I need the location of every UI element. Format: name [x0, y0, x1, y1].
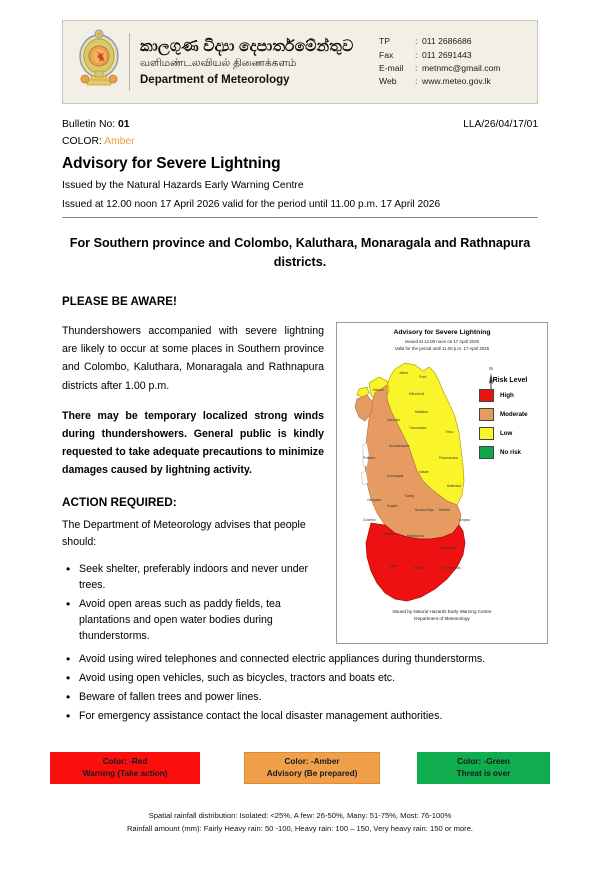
svg-text:Gampaha: Gampaha [367, 498, 381, 502]
org-name-tamil: வளிமண்டலவியல் திணைக்களம் [140, 57, 379, 70]
org-name-english: Department of Meteorology [140, 74, 379, 86]
svg-text:Anuradhapura: Anuradhapura [389, 444, 409, 448]
contact-row-web: Web : www.meteo.gov.lk [379, 75, 527, 88]
color-key-green: Color: -Green Threat is over [417, 752, 550, 784]
svg-text:Mullaitivu: Mullaitivu [415, 410, 429, 414]
bulletin-number: 01 [118, 119, 130, 130]
letterhead: කාලගුණ විද්‍යා දෙපාර්තමේන්තුව வளிமண்டலவி… [62, 20, 538, 104]
color-line: COLOR: Amber [62, 134, 538, 150]
svg-text:Nuwara Eliya: Nuwara Eliya [415, 508, 434, 512]
legend-swatch-low [479, 427, 494, 440]
contact-label-tp: TP [379, 35, 415, 48]
svg-text:Trincomalee: Trincomalee [409, 426, 427, 430]
svg-text:Jaffna: Jaffna [399, 371, 408, 375]
advisory-document-page: කාලගුණ විද්‍යා දෙපාර්තමේන්තුව வளிமண்டலவி… [0, 20, 600, 877]
list-item: Avoid open areas such as paddy fields, t… [79, 596, 324, 644]
issued-at-line: Issued at 12.00 noon 17 April 2026 valid… [62, 197, 538, 212]
svg-text:Mannar: Mannar [373, 388, 385, 392]
legend-item-high: High [479, 389, 541, 402]
contact-label-web: Web [379, 75, 415, 88]
color-key-amber-line1: Color: -Amber [285, 756, 340, 768]
risk-map-figure: Advisory for Severe Lightning Issued at … [336, 322, 548, 644]
sri-lanka-map-icon: Jaffna Point Mannar Kilinochchi Mullaiti… [343, 355, 485, 605]
contact-sep-web: : [415, 75, 422, 88]
legend-label-no-risk: No risk [500, 449, 521, 456]
svg-text:Ampara: Ampara [459, 518, 470, 522]
svg-text:Matale: Matale [419, 470, 429, 474]
svg-text:Point: Point [419, 375, 426, 379]
list-item: For emergency assistance contact the loc… [79, 708, 538, 724]
paragraph-precautions: There may be temporary localized strong … [62, 407, 324, 480]
sri-lanka-national-emblem-icon [78, 29, 120, 96]
legend-item-moderate: Moderate [479, 408, 541, 421]
svg-text:Trinco: Trinco [445, 430, 454, 434]
svg-text:Monaragala: Monaragala [439, 546, 456, 550]
contact-sep-tp: : [415, 35, 422, 48]
scope-statement: For Southern province and Colombo, Kalut… [62, 234, 538, 271]
paragraph-forecast: Thundershowers accompanied with severe l… [62, 322, 324, 395]
list-item: Avoid using open vehicles, such as bicyc… [79, 670, 538, 686]
legend-swatch-high [479, 389, 494, 402]
color-key-amber: Color: -Amber Advisory (Be prepared) [244, 752, 380, 784]
color-key-green-line1: Color: -Green [457, 756, 510, 768]
list-item: Seek shelter, preferably indoors and nev… [79, 561, 324, 593]
contact-value-fax: 011 2691443 [422, 49, 527, 62]
svg-text:Kaluthara: Kaluthara [383, 532, 397, 536]
svg-text:Vavuniya: Vavuniya [387, 418, 400, 422]
color-key-red-line1: Color: -Red [103, 756, 148, 768]
svg-text:Batticaloa: Batticaloa [447, 484, 461, 488]
svg-text:Badulla: Badulla [439, 508, 450, 512]
legend-item-low: Low [479, 427, 541, 440]
contact-sep-email: : [415, 62, 422, 75]
color-key-amber-line2: Advisory (Be prepared) [267, 768, 358, 780]
svg-text:Colombo: Colombo [363, 518, 376, 522]
map-caption-line2: Department of Meteorology [341, 616, 543, 623]
color-value: Amber [104, 136, 135, 147]
advises-intro: The Department of Meteorology advises th… [62, 517, 324, 551]
svg-text:Galle: Galle [389, 564, 397, 568]
advice-list-narrow: Seek shelter, preferably indoors and nev… [62, 561, 324, 644]
map-column: Advisory for Severe Lightning Issued at … [336, 322, 548, 644]
legend-label-moderate: Moderate [500, 411, 528, 418]
bulletin-meta: Bulletin No: 01 LLA/26/04/17/01 COLOR: A… [62, 117, 538, 218]
contact-row-tp: TP : 011 2686686 [379, 35, 527, 48]
color-key-green-line2: Threat is over [457, 768, 511, 780]
content-row: Thundershowers accompanied with severe l… [62, 322, 538, 647]
legend-swatch-no-risk [479, 446, 494, 459]
emblem-wrap [73, 29, 125, 96]
legend-label-low: Low [500, 430, 512, 437]
svg-text:Hambantota: Hambantota [443, 566, 461, 570]
compass-letter: N [484, 367, 498, 372]
reference-code: LLA/26/04/17/01 [463, 117, 538, 132]
legend-label-high: High [500, 392, 514, 399]
color-label: COLOR: [62, 136, 104, 147]
svg-text:Kilinochchi: Kilinochchi [409, 392, 425, 396]
color-key-red: Color: -Red Warning (Take action) [50, 752, 200, 784]
svg-text:Puttalam: Puttalam [363, 456, 376, 460]
page-title: Advisory for Severe Lightning [62, 152, 538, 175]
svg-text:Kegalle: Kegalle [387, 504, 398, 508]
svg-text:Kandy: Kandy [405, 494, 414, 498]
svg-text:Polonnaruwa: Polonnaruwa [439, 456, 458, 460]
please-be-aware-heading: PLEASE BE AWARE! [62, 295, 538, 308]
map-body: Jaffna Point Mannar Kilinochchi Mullaiti… [341, 355, 543, 607]
svg-text:Rathnapura: Rathnapura [407, 534, 424, 538]
bulletin-number-line: Bulletin No: 01 [62, 117, 130, 133]
list-item: Avoid using wired telephones and connect… [79, 651, 538, 667]
action-required-heading: ACTION REQUIRED: [62, 495, 324, 509]
contact-row-fax: Fax : 011 2691443 [379, 49, 527, 62]
legend-item-no-risk: No risk [479, 446, 541, 459]
map-subtitle-line2: Valid for the period until 11.00 p.m. 17… [341, 346, 543, 352]
organization-names: කාලගුණ විද්‍යා දෙපාර්තමේන්තුව வளிமண்டலவி… [140, 38, 379, 85]
contact-label-fax: Fax [379, 49, 415, 62]
legend-swatch-moderate [479, 408, 494, 421]
color-key-red-line2: Warning (Take action) [83, 768, 168, 780]
svg-text:Matara: Matara [413, 566, 423, 570]
footer-notes: Spatial rainfall distribution: Isolated:… [0, 810, 600, 835]
contact-details: TP : 011 2686686 Fax : 011 2691443 E-mai… [379, 35, 527, 88]
meta-divider [62, 217, 538, 218]
footer-line-spatial: Spatial rainfall distribution: Isolated:… [0, 810, 600, 823]
list-item: Beware of fallen trees and power lines. [79, 689, 538, 705]
org-name-sinhala: කාලගුණ විද්‍යා දෙපාර්තමේන්තුව [140, 38, 379, 56]
contact-label-email: E-mail [379, 62, 415, 75]
bulletin-meta-row: Bulletin No: 01 LLA/26/04/17/01 [62, 117, 538, 133]
contact-sep-fax: : [415, 49, 422, 62]
advice-list-wide: Avoid using wired telephones and connect… [62, 651, 538, 724]
contact-value-tp: 011 2686686 [422, 35, 527, 48]
contact-value-web[interactable]: www.meteo.gov.lk [422, 75, 527, 88]
contact-row-email: E-mail : metnmc@gmail.com [379, 62, 527, 75]
svg-text:Kurunegala: Kurunegala [387, 474, 404, 478]
footer-line-amount: Rainfall amount (mm): Fairly Heavy rain:… [0, 823, 600, 836]
color-key-row: Color: -Red Warning (Take action) Color:… [0, 750, 600, 786]
issued-by-line: Issued by the Natural Hazards Early Warn… [62, 178, 538, 194]
bulletin-label: Bulletin No: [62, 119, 118, 130]
text-column: Thundershowers accompanied with severe l… [62, 322, 324, 647]
contact-value-email[interactable]: metnmc@gmail.com [422, 62, 527, 75]
risk-level-legend: Risk Level High Moderate Low [479, 377, 541, 465]
map-title: Advisory for Severe Lightning [341, 329, 543, 337]
legend-title: Risk Level [479, 377, 541, 384]
letterhead-divider [129, 33, 130, 91]
map-caption-line1: Issued by Natural Hazards Early Warning … [341, 609, 543, 616]
